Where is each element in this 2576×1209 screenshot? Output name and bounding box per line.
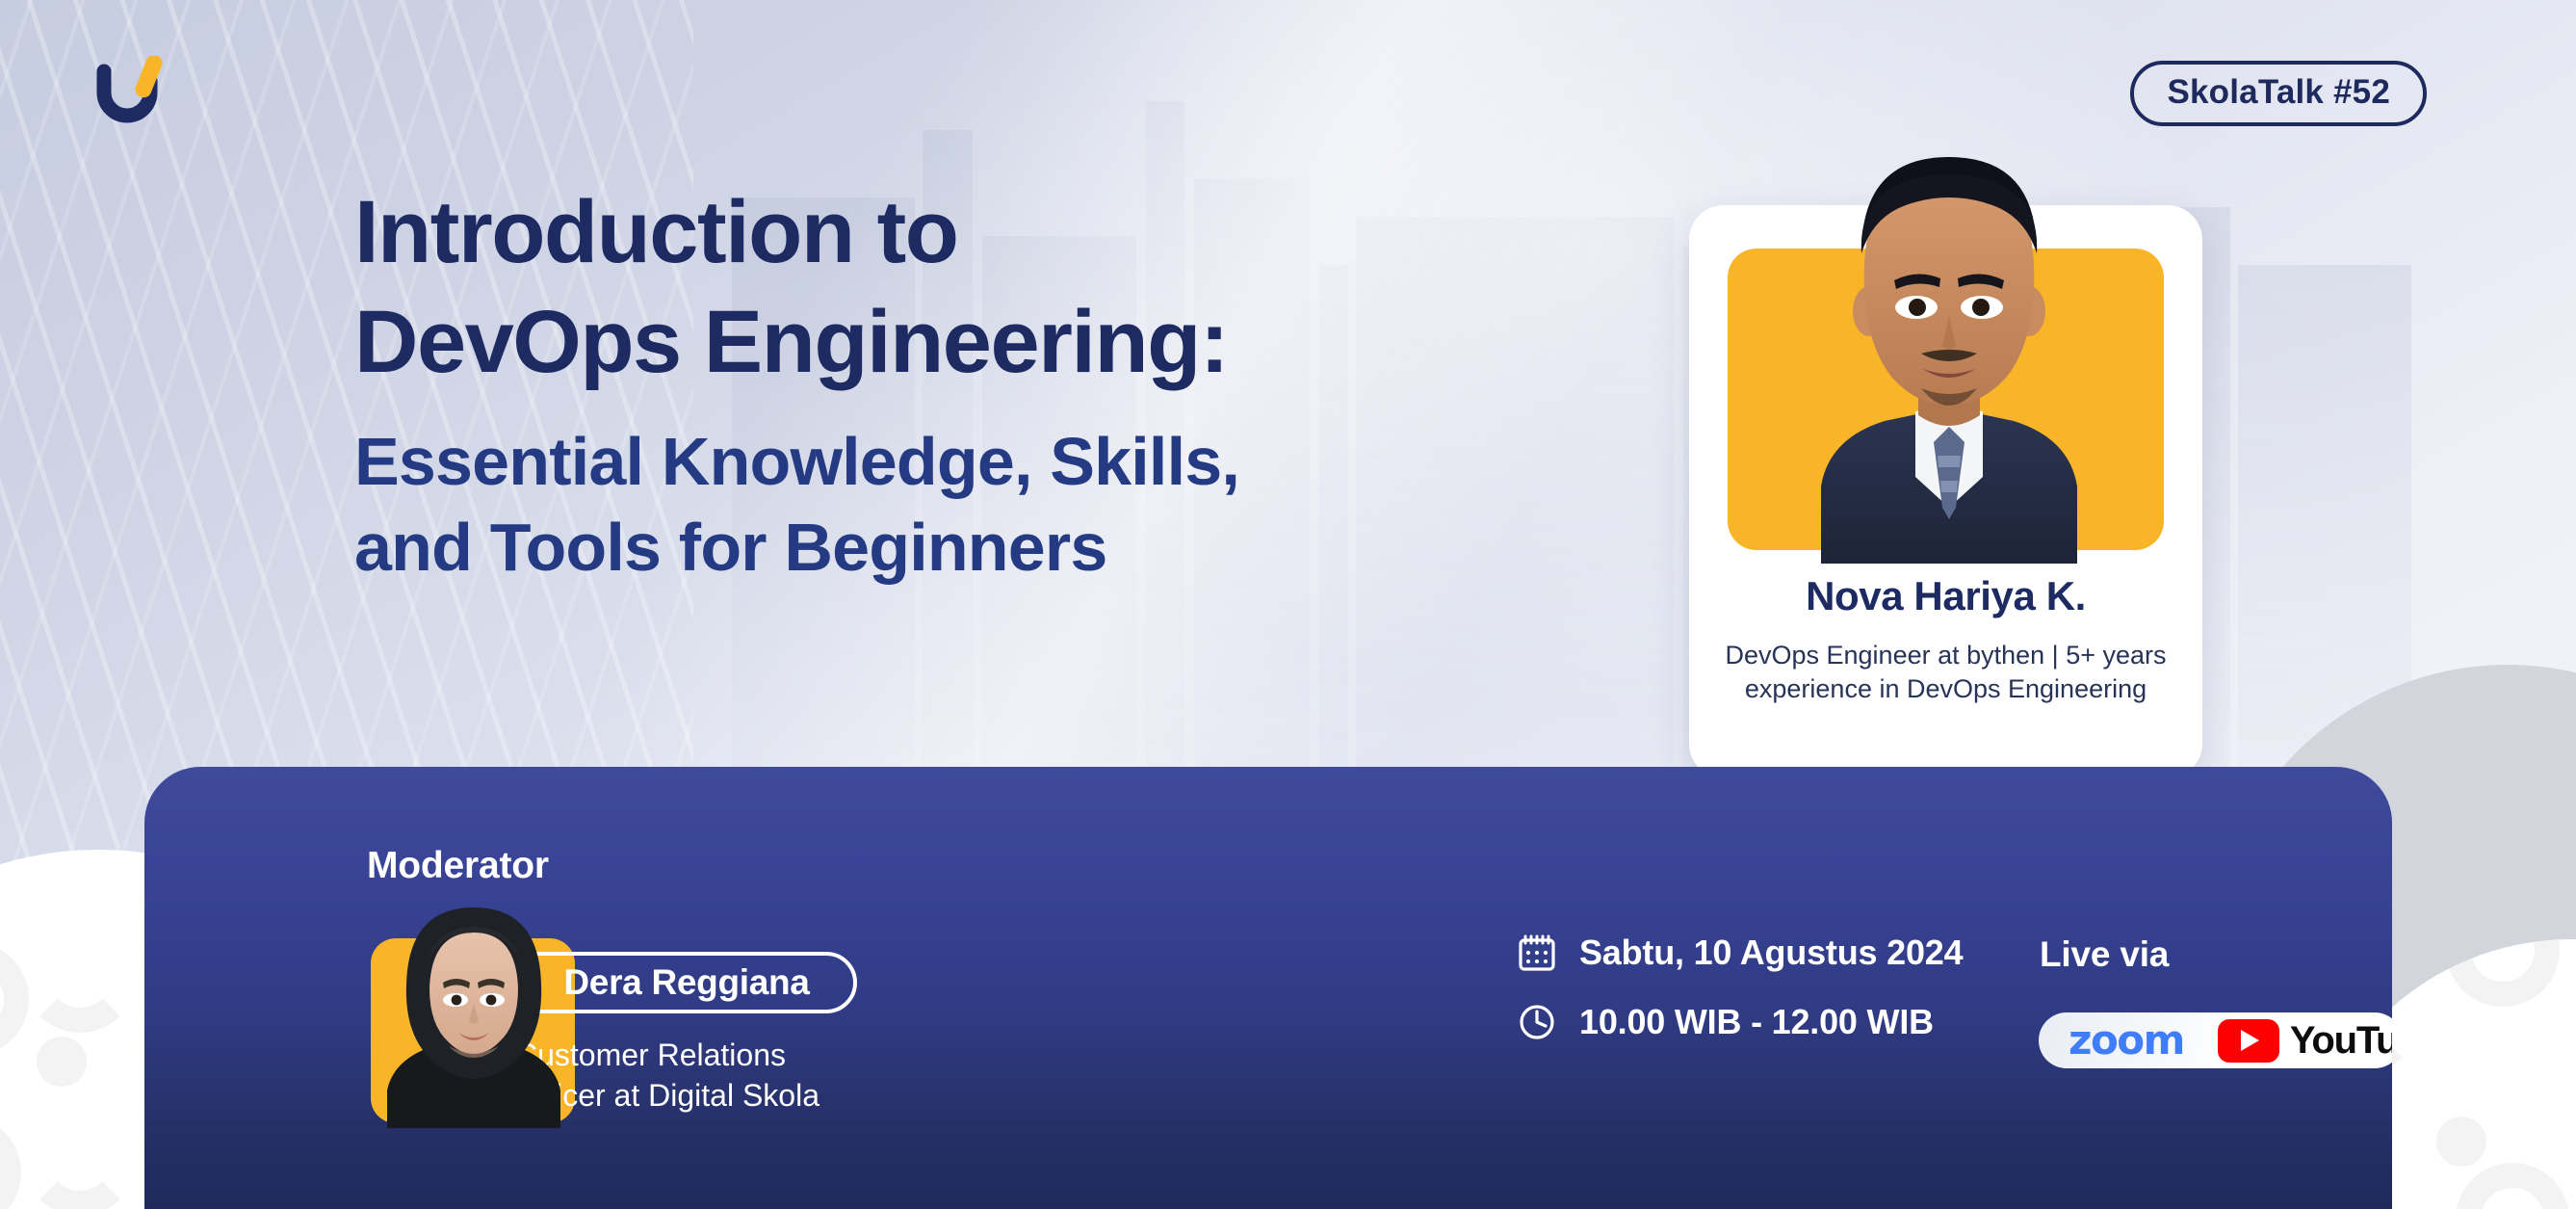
schedule-row-date: Sabtu, 10 Agustus 2024 [1518, 933, 1963, 973]
youtube-wordmark: YouTube [2290, 1021, 2392, 1060]
clock-icon [1518, 1003, 1556, 1041]
moderator-heading: Moderator [367, 845, 549, 887]
schedule-list: Sabtu, 10 Agustus 2024 10.00 WIB - 12.00… [1518, 933, 1963, 1071]
page-title-line-2: DevOps Engineering: [354, 298, 1722, 386]
schedule-date: Sabtu, 10 Agustus 2024 [1579, 933, 1963, 973]
speaker-avatar [1809, 149, 2089, 564]
schedule-row-time: 10.00 WIB - 12.00 WIB [1518, 1002, 1963, 1042]
calendar-icon [1518, 933, 1556, 972]
play-triangle-icon [2241, 1030, 2259, 1051]
page-subtitle: Essential Knowledge, Skills, and Tools f… [354, 427, 1722, 583]
live-via-heading: Live via [2040, 934, 2169, 975]
title-block: Introduction to DevOps Engineering: Esse… [354, 188, 1722, 583]
page-subtitle-line-1: Essential Knowledge, Skills, [354, 427, 1722, 497]
moderator-avatar [381, 902, 566, 1128]
schedule-time: 10.00 WIB - 12.00 WIB [1579, 1002, 1934, 1042]
live-platforms-pill: zoom YouTube [2039, 1012, 2392, 1068]
speaker-name: Nova Hariya K. [1689, 573, 2202, 619]
speaker-bio: DevOps Engineer at bythen | 5+ years exp… [1716, 639, 2175, 705]
youtube-play-badge [2218, 1019, 2279, 1063]
page-subtitle-line-2: and Tools for Beginners [354, 513, 1722, 583]
youtube-logo-icon[interactable]: YouTube [2218, 1019, 2392, 1063]
digital-skola-logo-icon[interactable] [85, 56, 173, 125]
skolatalk-badge: SkolaTalk #52 [2130, 61, 2427, 126]
zoom-logo-icon[interactable]: zoom [2069, 1020, 2184, 1061]
page-title-line-1: Introduction to [354, 188, 1722, 276]
info-panel: Moderator Dera Reggiana Customer Relatio… [144, 767, 2392, 1209]
webinar-banner: SkolaTalk #52 Introduction to DevOps Eng… [0, 0, 2576, 1209]
